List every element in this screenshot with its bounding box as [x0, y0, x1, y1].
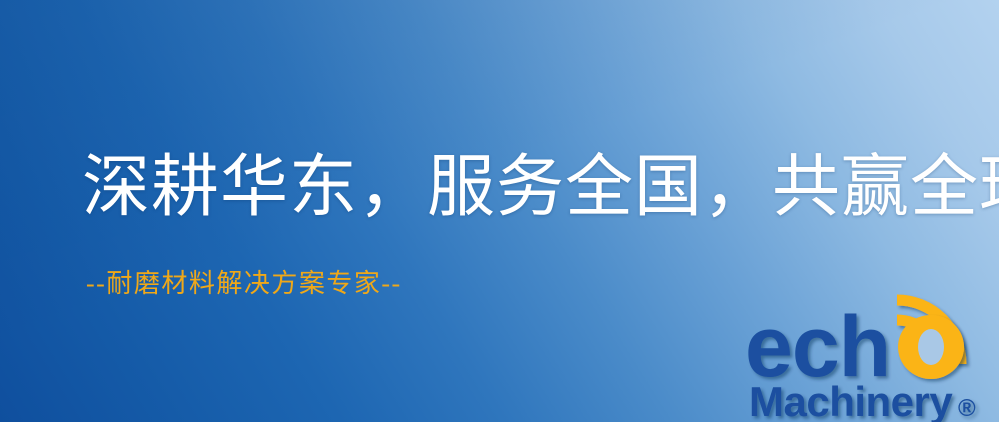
logo-letter-o [898, 315, 964, 379]
logo-trademark-symbol: ® [958, 395, 976, 422]
hero-banner: 深耕华东，服务全国，共赢全球 --耐磨材料解决方案专家-- ech [0, 0, 999, 422]
logo-tagline: Machinery [749, 378, 953, 422]
banner-headline: 深耕华东，服务全国，共赢全球 [82, 152, 999, 223]
echo-machinery-logo: ech Machinery ® [745, 292, 999, 422]
banner-subtitle: --耐磨材料解决方案专家-- [86, 268, 402, 299]
